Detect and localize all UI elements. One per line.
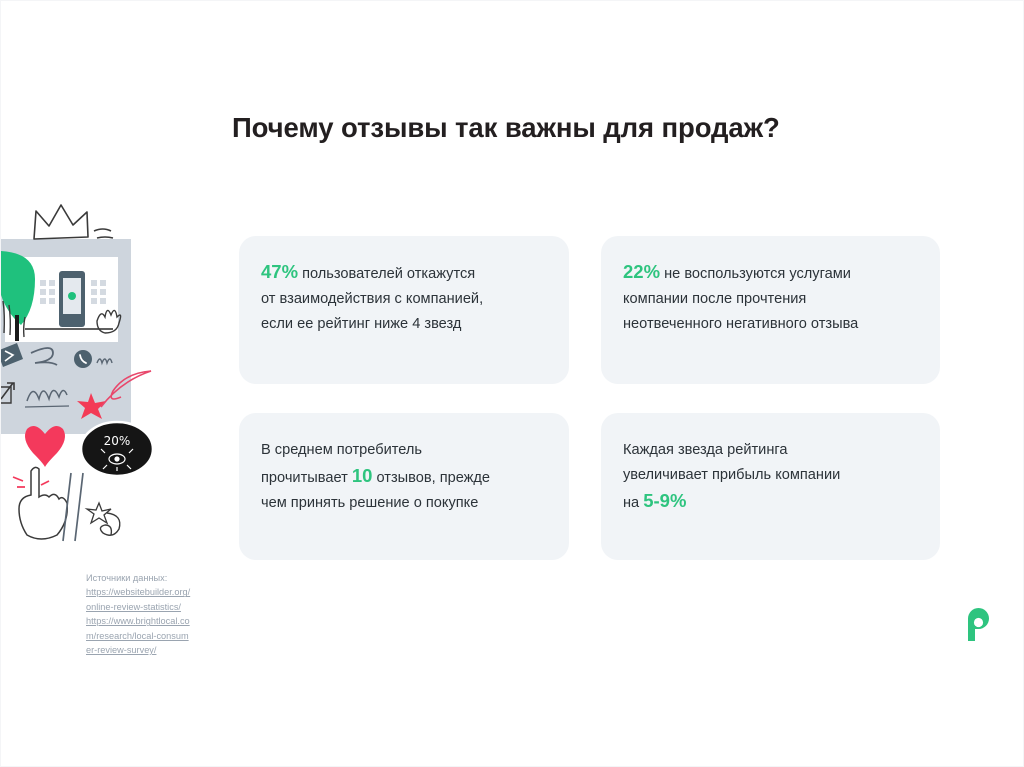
crown-doodle (34, 205, 88, 239)
stat-card-4-line1: Каждая звезда рейтинга (623, 442, 788, 458)
stat-card-2: 22% не воспользуются услугами компании п… (601, 236, 940, 384)
svg-text:20%: 20% (104, 434, 131, 448)
stat-card-2-line3: неотвеченного негативного отзыва (623, 316, 858, 332)
stat-card-2-line1: не воспользуются услугами (660, 266, 851, 282)
hand-drawn-reviews-illustration: 20% (1, 191, 186, 561)
stat-card-3-line1: В среднем потребитель (261, 442, 422, 458)
stat-card-4-line2: увеличивает прибыль компании (623, 467, 840, 483)
pointing-hand (19, 467, 67, 539)
stat-card-2-accent: 22% (623, 261, 660, 282)
stat-card-3-text: В среднем потребитель прочитывает 10 отз… (261, 438, 557, 516)
source-link-3[interactable]: https://www.brightlocal.co (86, 614, 226, 628)
stat-card-3-line2-before: прочитывает (261, 470, 352, 486)
stat-card-1-text: 47% пользователей откажутся от взаимодей… (261, 259, 557, 337)
source-link-2[interactable]: online-review-statistics/ (86, 600, 226, 614)
phone-call-icon (74, 350, 92, 368)
page-title: Почему отзывы так важны для продаж? (232, 112, 780, 144)
stat-card-1: 47% пользователей откажутся от взаимодей… (239, 236, 569, 384)
sources-title: Источники данных: (86, 571, 226, 585)
stat-card-3-line2-after: отзывов, прежде (372, 470, 490, 486)
stat-card-1-line3: если ее рейтинг ниже 4 звезд (261, 316, 461, 332)
stat-card-4: Каждая звезда рейтинга увеличивает прибы… (601, 413, 940, 560)
source-link-5[interactable]: er-review-survey/ (86, 643, 226, 657)
stat-card-1-line1: пользователей откажутся (298, 266, 475, 282)
stat-card-4-text: Каждая звезда рейтинга увеличивает прибы… (623, 438, 928, 516)
stat-card-4-line3-before: на (623, 495, 643, 511)
slide-canvas: Почему отзывы так важны для продаж? (0, 0, 1024, 767)
stat-card-1-accent: 47% (261, 261, 298, 282)
stat-card-2-text: 22% не воспользуются услугами компании п… (623, 259, 928, 337)
stat-card-1-line2: от взаимодействия с компанией, (261, 291, 483, 307)
source-link-1[interactable]: https://websitebuilder.org/ (86, 585, 226, 599)
stat-card-3: В среднем потребитель прочитывает 10 отз… (239, 413, 569, 560)
source-link-4[interactable]: m/research/local-consum (86, 629, 226, 643)
stat-card-3-accent: 10 (352, 465, 373, 486)
stat-card-4-accent: 5-9% (643, 490, 686, 511)
stat-card-3-line3: чем принять решение о покупке (261, 495, 478, 511)
sources-block: Источники данных: https://websitebuilder… (86, 571, 226, 657)
stat-card-2-line2: компании после прочтения (623, 291, 806, 307)
brand-p-logo (965, 608, 995, 642)
